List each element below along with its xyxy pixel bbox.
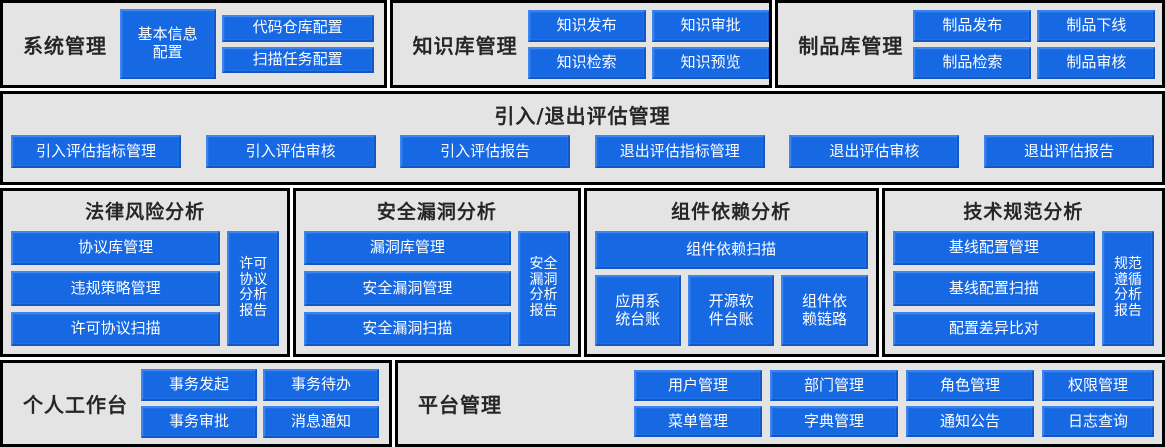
- panel-title-technical-specification-analysis: 技术规范分析: [893, 197, 1154, 224]
- security-vulnerability-body: 漏洞库管理 安全漏洞管理 安全漏洞扫描 安全 漏洞 分析 报告: [304, 231, 569, 346]
- button-product-audit[interactable]: 制品审核: [1037, 47, 1155, 79]
- spec-report-line3: 分析: [1114, 288, 1142, 304]
- system-management-buttons: 基本信息 配置 代码仓库配置 扫描任务配置: [117, 3, 378, 85]
- button-exit-eval-indicator-management[interactable]: 退出评估指标管理: [595, 135, 765, 168]
- button-product-offline[interactable]: 制品下线: [1037, 10, 1155, 42]
- panel-system-management: 系统管理 基本信息 配置 代码仓库配置 扫描任务配置: [0, 0, 387, 88]
- menu-map-canvas: 系统管理 基本信息 配置 代码仓库配置 扫描任务配置 知识库管理 知识发布 知识…: [0, 0, 1165, 447]
- oss-ledger-line1: 开源软: [709, 292, 754, 310]
- evaluation-buttons: 引入评估指标管理 引入评估审核 引入评估报告 退出评估指标管理 退出评估审核 退…: [11, 135, 1154, 168]
- panel-security-vulnerability-analysis: 安全漏洞分析 漏洞库管理 安全漏洞管理 安全漏洞扫描 安全 漏洞 分析 报告: [293, 188, 580, 357]
- button-basic-info-config-line2: 配置: [153, 44, 183, 62]
- button-component-dependency-chain[interactable]: 组件依 赖链路: [781, 275, 867, 346]
- button-license-analysis-report[interactable]: 许可 协议 分析 报告: [227, 231, 279, 346]
- button-basic-info-config[interactable]: 基本信息 配置: [120, 9, 216, 79]
- button-knowledge-preview[interactable]: 知识预览: [652, 47, 770, 79]
- workbench-stack-1: 事务发起 事务审批: [141, 363, 257, 444]
- button-open-source-software-ledger[interactable]: 开源软 件台账: [688, 275, 774, 346]
- button-entry-eval-review[interactable]: 引入评估审核: [206, 135, 376, 168]
- button-agreement-library-management[interactable]: 协议库管理: [11, 231, 220, 265]
- vuln-report-line3: 分析: [530, 288, 558, 304]
- button-entry-eval-report[interactable]: 引入评估报告: [400, 135, 570, 168]
- button-config-difference-comparison[interactable]: 配置差异比对: [893, 312, 1095, 346]
- license-report-line2: 协议: [239, 273, 267, 289]
- platform-management-buttons: 用户管理 菜单管理 部门管理 字典管理 角色管理 通知公告 权限管理 日志查询: [512, 364, 1156, 443]
- dep-chain-line1: 组件依: [802, 292, 847, 310]
- button-code-repo-config[interactable]: 代码仓库配置: [222, 15, 374, 42]
- panel-title-component-dependency-analysis: 组件依赖分析: [595, 197, 868, 224]
- button-product-publish[interactable]: 制品发布: [913, 10, 1031, 42]
- product-stack-1: 制品发布 制品检索: [913, 4, 1031, 85]
- platform-stack-3: 角色管理 通知公告: [906, 364, 1034, 443]
- spec-report-line1: 规范: [1114, 257, 1142, 273]
- button-product-search[interactable]: 制品检索: [913, 47, 1031, 79]
- button-baseline-config-scan[interactable]: 基线配置扫描: [893, 271, 1095, 305]
- button-basic-info-config-line1: 基本信息: [138, 26, 198, 44]
- spec-report-line4: 报告: [1114, 304, 1142, 320]
- panel-knowledge-base-management: 知识库管理 知识发布 知识检索 知识审批 知识预览: [390, 0, 773, 88]
- platform-stack-1: 用户管理 菜单管理: [634, 364, 762, 443]
- button-role-management[interactable]: 角色管理: [906, 370, 1034, 401]
- button-log-query[interactable]: 日志查询: [1042, 406, 1154, 437]
- button-task-approval[interactable]: 事务审批: [141, 406, 257, 438]
- button-security-vulnerability-report[interactable]: 安全 漏洞 分析 报告: [518, 231, 570, 346]
- button-violation-policy-management[interactable]: 违规策略管理: [11, 271, 220, 305]
- button-scan-task-config[interactable]: 扫描任务配置: [222, 47, 374, 74]
- component-ledger-row: 应用系 统台账 开源软 件台账 组件依 赖链路: [595, 275, 868, 346]
- button-security-vulnerability-scan[interactable]: 安全漏洞扫描: [304, 312, 510, 346]
- system-management-stack: 代码仓库配置 扫描任务配置: [222, 9, 374, 79]
- panel-entry-exit-evaluation-management: 引入/退出评估管理 引入评估指标管理 引入评估审核 引入评估报告 退出评估指标管…: [0, 91, 1165, 185]
- vuln-report-line1: 安全: [530, 257, 558, 273]
- panel-title-platform-management: 平台管理: [404, 389, 512, 418]
- app-ledger-line1: 应用系: [615, 292, 660, 310]
- button-exit-eval-report[interactable]: 退出评估报告: [984, 135, 1154, 168]
- panel-title-security-vulnerability-analysis: 安全漏洞分析: [304, 197, 569, 224]
- button-security-vulnerability-management[interactable]: 安全漏洞管理: [304, 271, 510, 305]
- panel-personal-workbench: 个人工作台 事务发起 事务审批 事务待办 消息通知: [0, 360, 392, 447]
- top-row: 系统管理 基本信息 配置 代码仓库配置 扫描任务配置 知识库管理 知识发布 知识…: [0, 0, 1165, 88]
- button-message-notification[interactable]: 消息通知: [263, 406, 379, 438]
- security-vulnerability-buttons: 漏洞库管理 安全漏洞管理 安全漏洞扫描: [304, 231, 510, 346]
- button-task-initiate[interactable]: 事务发起: [141, 369, 257, 401]
- panel-title-legal-risk-analysis: 法律风险分析: [11, 197, 279, 224]
- button-baseline-config-management[interactable]: 基线配置管理: [893, 231, 1095, 265]
- button-dictionary-management[interactable]: 字典管理: [770, 406, 898, 437]
- button-specification-compliance-report[interactable]: 规范 遵循 分析 报告: [1102, 231, 1154, 346]
- panel-title-product-repository-management: 制品库管理: [784, 30, 913, 59]
- legal-risk-buttons: 协议库管理 违规策略管理 许可协议扫描: [11, 231, 220, 346]
- platform-stack-4: 权限管理 日志查询: [1042, 364, 1154, 443]
- spec-report-line2: 遵循: [1114, 273, 1142, 289]
- button-entry-eval-indicator-management[interactable]: 引入评估指标管理: [11, 135, 181, 168]
- knowledge-base-buttons: 知识发布 知识检索 知识审批 知识预览: [528, 4, 773, 85]
- knowledge-stack-1: 知识发布 知识检索: [528, 4, 646, 85]
- button-user-management[interactable]: 用户管理: [634, 370, 762, 401]
- button-menu-management[interactable]: 菜单管理: [634, 406, 762, 437]
- panel-title-entry-exit-evaluation: 引入/退出评估管理: [11, 100, 1154, 129]
- license-report-line4: 报告: [239, 304, 267, 320]
- panel-title-system-management: 系统管理: [9, 30, 117, 59]
- panel-title-knowledge-base-management: 知识库管理: [399, 30, 528, 59]
- button-knowledge-approval[interactable]: 知识审批: [652, 10, 770, 42]
- component-scan-row: 组件依赖扫描: [595, 231, 868, 269]
- panel-component-dependency-analysis: 组件依赖分析 组件依赖扫描 应用系 统台账 开源软 件台账 组件依: [584, 188, 879, 357]
- legal-risk-body: 协议库管理 违规策略管理 许可协议扫描 许可 协议 分析 报告: [11, 231, 279, 346]
- platform-stack-2: 部门管理 字典管理: [770, 364, 898, 443]
- dep-chain-line2: 赖链路: [802, 310, 847, 328]
- button-department-management[interactable]: 部门管理: [770, 370, 898, 401]
- button-component-dependency-scan[interactable]: 组件依赖扫描: [595, 231, 868, 269]
- personal-workbench-buttons: 事务发起 事务审批 事务待办 消息通知: [138, 363, 383, 444]
- analysis-row: 法律风险分析 协议库管理 违规策略管理 许可协议扫描 许可 协议 分析 报告 安…: [0, 188, 1165, 357]
- product-stack-2: 制品下线 制品审核: [1037, 4, 1155, 85]
- panel-title-personal-workbench: 个人工作台: [9, 389, 138, 418]
- knowledge-stack-2: 知识审批 知识预览: [652, 4, 770, 85]
- button-application-system-ledger[interactable]: 应用系 统台账: [595, 275, 681, 346]
- panel-product-repository-management: 制品库管理 制品发布 制品检索 制品下线 制品审核: [775, 0, 1165, 88]
- button-knowledge-publish[interactable]: 知识发布: [528, 10, 646, 42]
- panel-technical-specification-analysis: 技术规范分析 基线配置管理 基线配置扫描 配置差异比对 规范 遵循 分析 报告: [882, 188, 1165, 357]
- button-knowledge-search[interactable]: 知识检索: [528, 47, 646, 79]
- workbench-stack-2: 事务待办 消息通知: [263, 363, 379, 444]
- bottom-row: 个人工作台 事务发起 事务审批 事务待办 消息通知 平台管理 用户管理 菜单管理: [0, 360, 1165, 447]
- panel-platform-management: 平台管理 用户管理 菜单管理 部门管理 字典管理 角色管理 通知公告 权限管理 …: [395, 360, 1165, 447]
- app-ledger-line2: 统台账: [615, 310, 660, 328]
- product-repository-buttons: 制品发布 制品检索 制品下线 制品审核: [913, 4, 1159, 85]
- technical-specification-body: 基线配置管理 基线配置扫描 配置差异比对 规范 遵循 分析 报告: [893, 231, 1154, 346]
- button-exit-eval-review[interactable]: 退出评估审核: [789, 135, 959, 168]
- button-task-pending[interactable]: 事务待办: [263, 369, 379, 401]
- button-notice-announcement[interactable]: 通知公告: [906, 406, 1034, 437]
- evaluation-row: 引入/退出评估管理 引入评估指标管理 引入评估审核 引入评估报告 退出评估指标管…: [0, 91, 1165, 185]
- technical-specification-buttons: 基线配置管理 基线配置扫描 配置差异比对: [893, 231, 1095, 346]
- button-permission-management[interactable]: 权限管理: [1042, 370, 1154, 401]
- oss-ledger-line2: 件台账: [709, 310, 754, 328]
- license-report-line1: 许可: [239, 257, 267, 273]
- component-dependency-body: 组件依赖扫描 应用系 统台账 开源软 件台账 组件依 赖链路: [595, 231, 868, 346]
- panel-legal-risk-analysis: 法律风险分析 协议库管理 违规策略管理 许可协议扫描 许可 协议 分析 报告: [0, 188, 290, 357]
- vuln-report-line4: 报告: [530, 304, 558, 320]
- button-vulnerability-library-management[interactable]: 漏洞库管理: [304, 231, 510, 265]
- vuln-report-line2: 漏洞: [530, 273, 558, 289]
- button-license-agreement-scan[interactable]: 许可协议扫描: [11, 312, 220, 346]
- license-report-line3: 分析: [239, 288, 267, 304]
